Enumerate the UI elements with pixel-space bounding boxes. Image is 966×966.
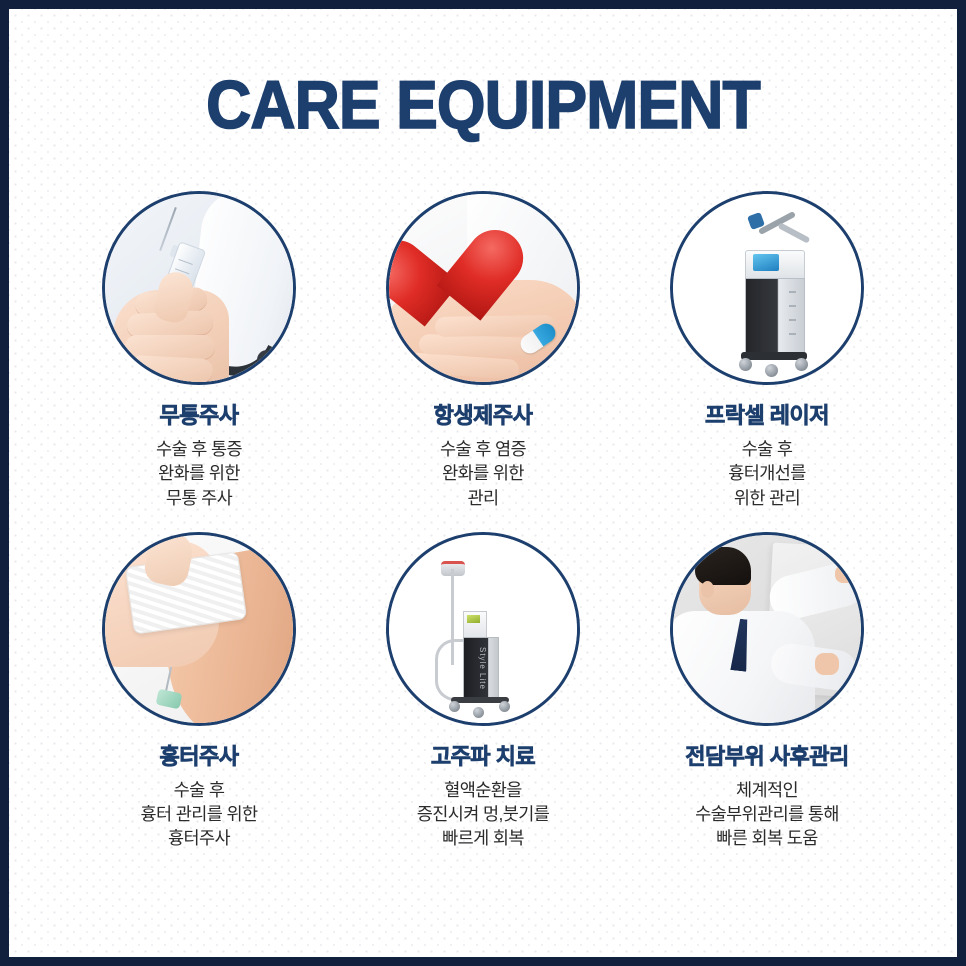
card-title: 무통주사 <box>160 403 239 428</box>
card-title: 흉터주사 <box>160 744 239 769</box>
card-description: 수술 후 흉터 관리를 위한 흉터주사 <box>140 778 257 850</box>
circle-image-frame <box>670 532 864 726</box>
page-title: CARE EQUIPMENT <box>206 71 760 139</box>
fractional-laser-machine-icon <box>673 194 861 382</box>
card-title: 전담부위 사후관리 <box>685 744 849 769</box>
equipment-card[interactable]: 항생제주사 수술 후 염증 완화를 위한 관리 <box>341 191 625 510</box>
circle-image-frame <box>102 191 296 385</box>
card-description: 체계적인 수술부위관리를 통해 빠른 회복 도움 <box>695 778 839 850</box>
equipment-card[interactable]: 흉터주사 수술 후 흉터 관리를 위한 흉터주사 <box>57 532 341 851</box>
card-description: 혈액순환을 증진시켜 멍,붓기를 빠르게 회복 <box>417 778 550 850</box>
equipment-card[interactable]: 무통주사 수술 후 통증 완화를 위한 무통 주사 <box>57 191 341 510</box>
card-description: 수술 후 통증 완화를 위한 무통 주사 <box>156 437 242 509</box>
card-description: 수술 후 염증 완화를 위한 관리 <box>440 437 526 509</box>
gauze-on-arm-injection-icon <box>105 535 293 723</box>
machine-brand-label: Style Lite <box>465 647 487 690</box>
page-title-wrap: CARE EQUIPMENT <box>9 71 957 139</box>
card-description: 수술 후 흉터개선를 위한 관리 <box>728 437 806 509</box>
radiofrequency-machine-icon: Style Lite <box>389 535 577 723</box>
equipment-grid: 무통주사 수술 후 통증 완화를 위한 무통 주사 항생제주사 수술 후 염증 … <box>57 191 909 850</box>
poster-root: CARE EQUIPMENT <box>0 0 966 966</box>
circle-image-frame: Style Lite <box>386 532 580 726</box>
equipment-card[interactable]: 프락셀 레이저 수술 후 흉터개선를 위한 관리 <box>625 191 909 510</box>
card-title: 항생제주사 <box>434 403 533 428</box>
circle-image-frame <box>386 191 580 385</box>
doctor-reviewing-film-icon <box>673 535 861 723</box>
syringe-in-hand-icon <box>105 194 293 382</box>
heart-icon <box>390 233 504 347</box>
card-title: 고주파 치료 <box>431 744 535 769</box>
card-title: 프락셀 레이저 <box>705 403 829 428</box>
equipment-card[interactable]: 전담부위 사후관리 체계적인 수술부위관리를 통해 빠른 회복 도움 <box>625 532 909 851</box>
equipment-card[interactable]: Style Lite 고주파 치료 혈액순환을 증진시켜 멍,붓기를 빠르게 회… <box>341 532 625 851</box>
circle-image-frame <box>102 532 296 726</box>
heart-on-palm-icon <box>389 194 577 382</box>
circle-image-frame <box>670 191 864 385</box>
